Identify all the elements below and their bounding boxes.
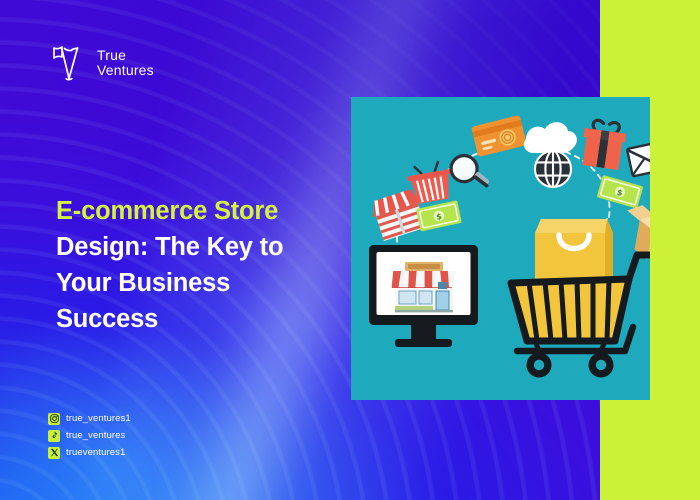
instagram-icon — [48, 413, 60, 425]
social-handle-tiktok: true_ventures — [66, 430, 125, 442]
brand-name: True Ventures — [97, 48, 154, 78]
headline-line-3: Your Business — [56, 265, 346, 301]
social-row-x[interactable]: trueventures1 — [48, 446, 131, 459]
ecommerce-illustration: $ — [351, 97, 650, 400]
globe-icon — [535, 151, 571, 187]
brand-name-line1: True — [97, 48, 154, 63]
brand-name-line2: Ventures — [97, 63, 154, 78]
x-twitter-icon — [48, 447, 60, 459]
headline-line-1: E-commerce Store — [56, 193, 346, 229]
brand-logo: True Ventures — [50, 42, 154, 84]
social-row-instagram[interactable]: true_ventures1 — [48, 412, 131, 425]
social-handle-x: trueventures1 — [66, 447, 125, 459]
social-handles-list: true_ventures1 true_ventures trueventure… — [48, 412, 131, 463]
social-media-banner: True Ventures E-commerce Store Design: T… — [0, 0, 700, 500]
headline: E-commerce Store Design: The Key to Your… — [56, 193, 346, 337]
social-handle-instagram: true_ventures1 — [66, 413, 131, 425]
social-row-tiktok[interactable]: true_ventures — [48, 429, 131, 442]
headline-line-2: Design: The Key to — [56, 229, 346, 265]
tv-monogram-logo-icon — [50, 42, 90, 84]
tiktok-icon — [48, 430, 60, 442]
headline-line-4: Success — [56, 301, 346, 337]
